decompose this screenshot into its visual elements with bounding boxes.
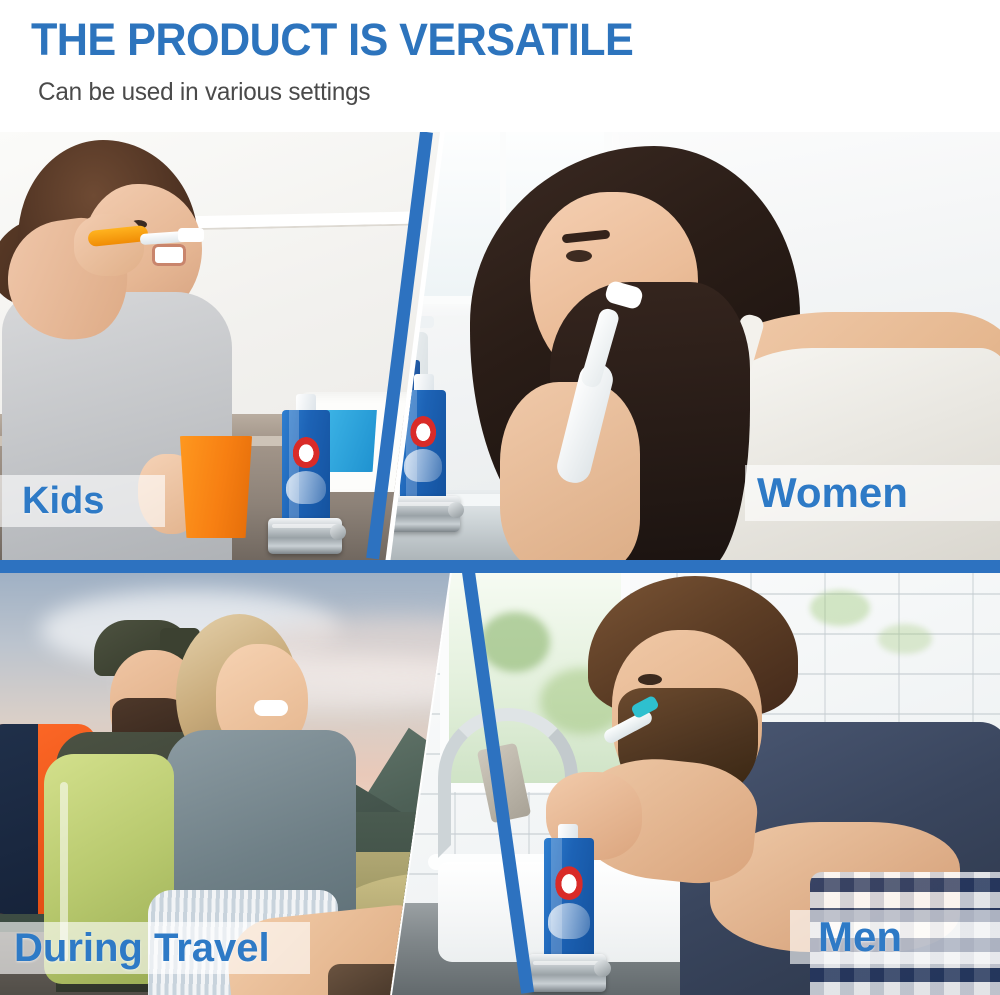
label-men: Men	[790, 910, 1000, 964]
label-during-travel: During Travel	[0, 922, 310, 974]
divider-horizontal	[0, 560, 1000, 573]
photo-collage: Kids Women During Travel Men	[0, 132, 1000, 995]
label-during-travel-text: During Travel	[14, 928, 270, 968]
label-women-text: Women	[757, 472, 908, 514]
product-tube-squeezer	[268, 394, 344, 554]
page-title: THE PRODUCT IS VERSATILE	[31, 16, 633, 63]
label-kids: Kids	[0, 475, 165, 527]
page-subtitle: Can be used in various settings	[38, 78, 370, 107]
product-tube-squeezer	[528, 824, 608, 994]
product-feature-image: THE PRODUCT IS VERSATILE Can be used in …	[0, 0, 1000, 995]
label-kids-text: Kids	[22, 482, 104, 520]
label-women: Women	[745, 465, 1000, 521]
label-men-text: Men	[818, 916, 902, 958]
header: THE PRODUCT IS VERSATILE Can be used in …	[0, 0, 1000, 132]
